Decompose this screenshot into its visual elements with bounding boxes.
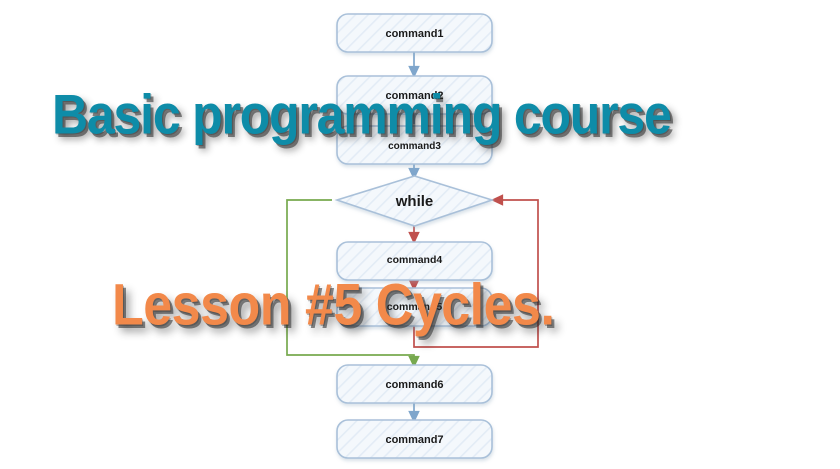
node-while-decision[interactable]: while xyxy=(337,176,492,226)
node-command7[interactable]: command7 xyxy=(337,420,492,458)
node-command1-label: command1 xyxy=(385,28,443,40)
node-command4-label: command4 xyxy=(387,254,443,266)
flowchart-diagram: command1 command2 command3 while command… xyxy=(0,0,840,469)
slide-title: Basic programming course xyxy=(52,82,671,147)
node-command6[interactable]: command6 xyxy=(337,365,492,403)
node-command1[interactable]: command1 xyxy=(337,14,492,52)
node-command7-label: command7 xyxy=(385,434,443,446)
slide-canvas: command1 command2 command3 while command… xyxy=(0,0,840,469)
slide-subtitle: Lesson #5 Cycles. xyxy=(112,272,554,339)
node-while-label: while xyxy=(395,193,434,210)
node-command6-label: command6 xyxy=(385,379,443,391)
